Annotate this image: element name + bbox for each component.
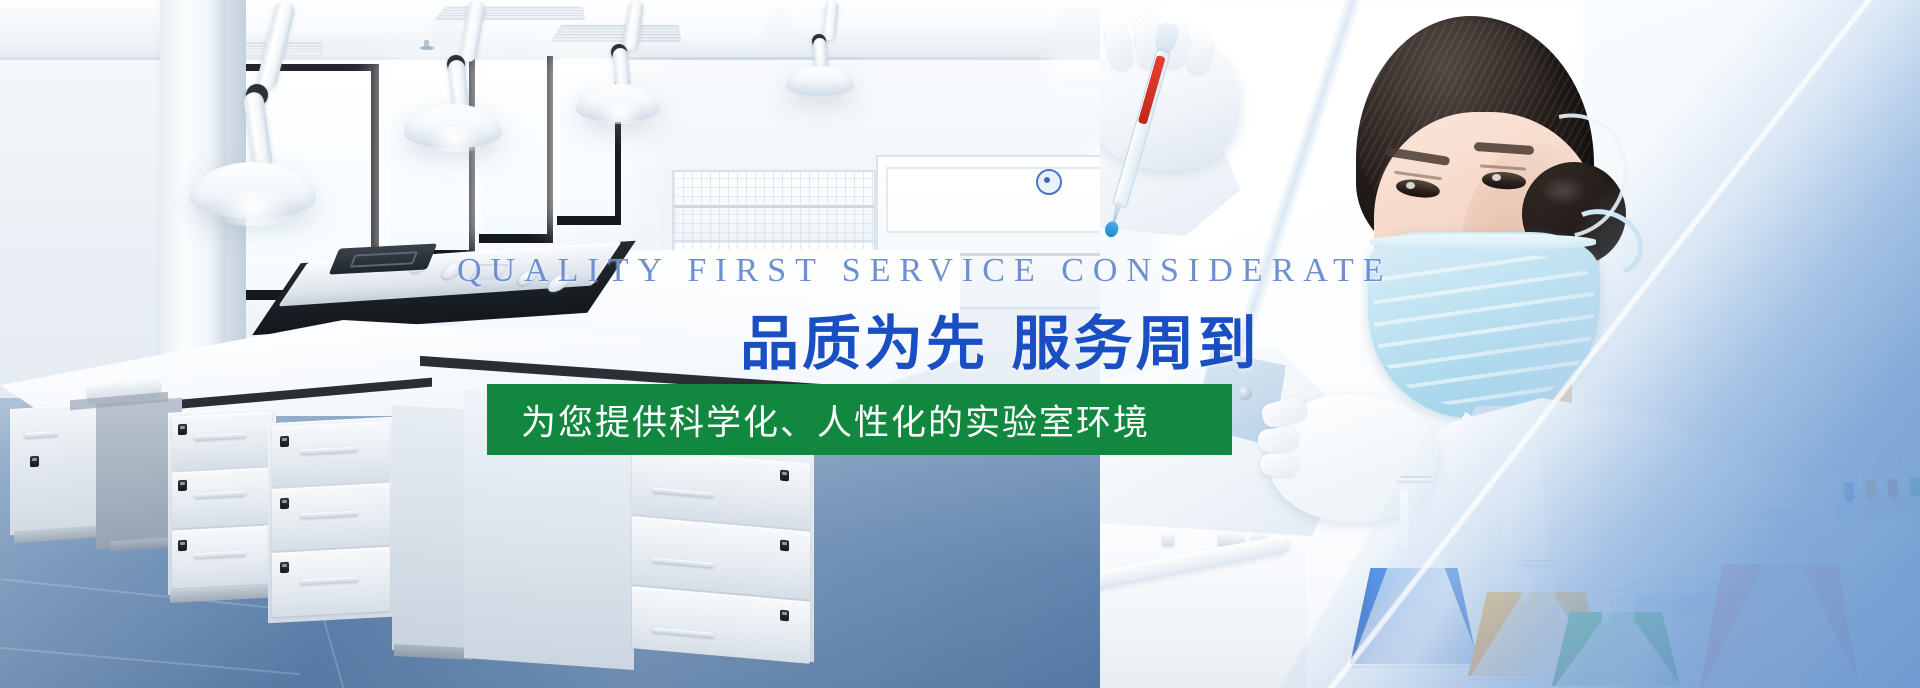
subtitle-text: 为您提供科学化、人性化的实验室环境 xyxy=(521,394,1150,445)
window-3 xyxy=(482,60,548,236)
subtitle-green-bar: 为您提供科学化、人性化的实验室环境 xyxy=(487,384,1232,455)
headline-text: 品质为先 服务周到 xyxy=(740,296,1260,381)
drawer xyxy=(172,411,272,470)
eyebrow-text: QUALITY FIRST SERVICE CONSIDERATE xyxy=(457,252,1393,290)
eye-highlight xyxy=(1406,182,1415,189)
ceiling-grille-icon xyxy=(550,25,681,42)
eye-highlight xyxy=(1492,174,1501,181)
drawer xyxy=(272,483,390,551)
cuff-button xyxy=(1238,386,1252,400)
drawer xyxy=(172,525,272,588)
wall-cabinet xyxy=(672,170,876,244)
sprinkler-head-icon xyxy=(420,40,434,50)
drawer xyxy=(272,421,390,487)
cabinet-door-unit xyxy=(10,403,102,535)
window-4 xyxy=(560,58,616,218)
cabinet-side-panel xyxy=(392,404,466,654)
fume-hood-sash xyxy=(886,167,1110,233)
hood-indicator-icon xyxy=(1036,169,1062,195)
ceiling-grille-icon xyxy=(434,6,586,20)
lab-promo-banner: QUALITY FIRST SERVICE CONSIDERATE 品质为先 服… xyxy=(0,0,1920,688)
drawer xyxy=(172,467,272,528)
label-chip xyxy=(1162,534,1174,546)
